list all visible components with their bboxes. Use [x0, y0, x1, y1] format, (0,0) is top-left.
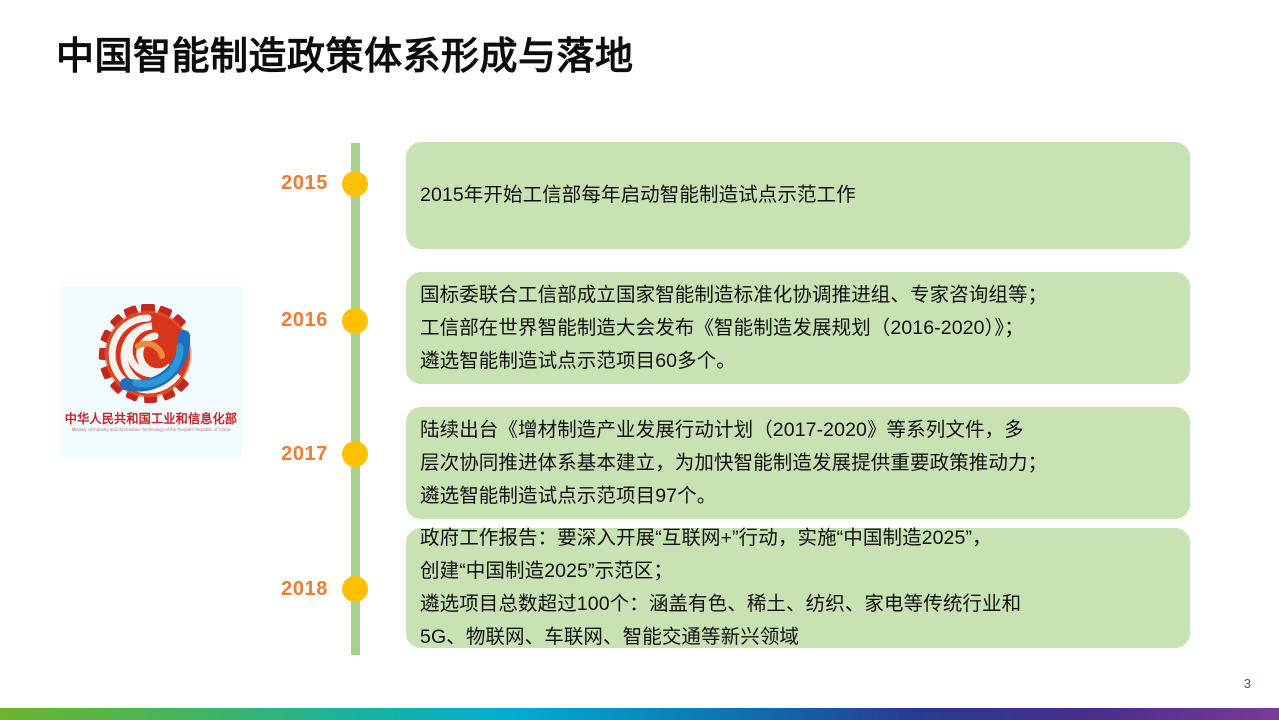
page-title: 中国智能制造政策体系形成与落地	[56, 35, 634, 81]
miit-emblem-icon	[92, 302, 210, 406]
miit-logo: 中华人民共和国工业和信息化部 Ministry of Industry and …	[60, 286, 242, 458]
slide-canvas: 中国智能制造政策体系形成与落地	[0, 0, 1279, 720]
card-line: 工信部在世界智能制造大会发布《智能制造发展规划（2016-2020）》；	[420, 312, 1176, 345]
timeline-card-2015: 2015年开始工信部每年启动智能制造试点示范工作	[406, 142, 1190, 249]
timeline-year-2016: 2016	[246, 309, 328, 332]
card-line: 遴选项目总数超过100个：涵盖有色、稀土、纺织、家电等传统行业和	[420, 588, 1176, 621]
logo-cn-label: 中华人民共和国工业和信息化部	[63, 408, 240, 427]
logo-en-label: Ministry of Industry and Information Tec…	[60, 427, 242, 432]
card-line: 5G、物联网、车联网、智能交通等新兴领域	[420, 621, 1176, 654]
card-line: 创建“中国制造2025”示范区；	[420, 555, 1176, 588]
card-line: 政府工作报告：要深入开展“互联网+”行动，实施“中国制造2025”，	[420, 522, 1176, 555]
timeline-dot-2016	[342, 308, 368, 334]
card-line: 遴选智能制造试点示范项目60多个。	[420, 345, 1176, 378]
card-line: 遴选智能制造试点示范项目97个。	[420, 480, 1176, 513]
timeline-card-2016: 国标委联合工信部成立国家智能制造标准化协调推进组、专家咨询组等； 工信部在世界智…	[406, 272, 1190, 384]
timeline-card-2017: 陆续出台《增材制造产业发展行动计划（2017-2020》等系列文件，多 层次协同…	[406, 407, 1190, 519]
timeline-year-2018: 2018	[246, 578, 328, 601]
timeline-dot-2015	[342, 171, 368, 197]
timeline-dot-2018	[342, 576, 368, 602]
card-line: 层次协同推进体系基本建立，为加快智能制造发展提供重要政策推动力；	[420, 447, 1176, 480]
card-line: 国标委联合工信部成立国家智能制造标准化协调推进组、专家咨询组等；	[420, 279, 1176, 312]
card-line: 陆续出台《增材制造产业发展行动计划（2017-2020》等系列文件，多	[420, 414, 1176, 447]
timeline-year-2015: 2015	[246, 172, 328, 195]
footer-gradient-bar	[0, 708, 1279, 720]
page-number: 3	[1244, 676, 1251, 691]
card-line: 2015年开始工信部每年启动智能制造试点示范工作	[420, 179, 1176, 212]
timeline-card-2018: 政府工作报告：要深入开展“互联网+”行动，实施“中国制造2025”， 创建“中国…	[406, 528, 1190, 648]
timeline-year-2017: 2017	[246, 443, 328, 466]
timeline-dot-2017	[342, 441, 368, 467]
